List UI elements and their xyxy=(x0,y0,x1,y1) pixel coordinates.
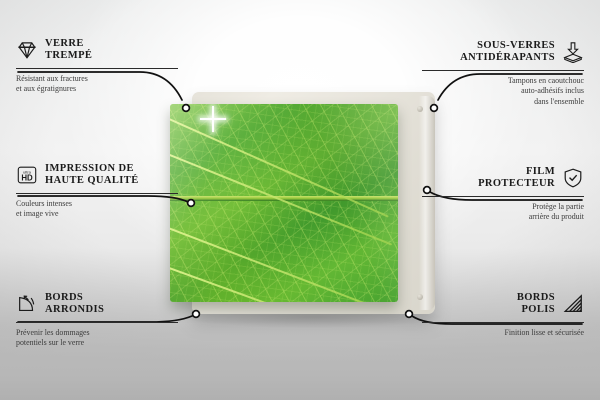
feature-title: SOUS-VERRES ANTIDÉRAPANTS xyxy=(460,40,555,65)
divider xyxy=(422,196,584,197)
feature-header: SOUS-VERRES ANTIDÉRAPANTS xyxy=(422,40,584,65)
feature-title: BORDS ARRONDIS xyxy=(45,292,104,317)
feature-film-protecteur: FILM PROTECTEUR Protège la partie arrièr… xyxy=(422,166,584,223)
product-image xyxy=(170,92,435,324)
shield-check-icon xyxy=(562,167,584,189)
feature-header: BORDS ARRONDIS xyxy=(16,292,178,317)
feature-header: BORDS POLIS xyxy=(422,292,584,317)
feature-bords-arrondis: BORDS ARRONDIS Prévenir les dommages pot… xyxy=(16,292,178,349)
infographic-canvas: VERRE TREMPÉ Résistant aux fractures et … xyxy=(0,0,600,400)
feature-description: Prévenir les dommages potentiels sur le … xyxy=(16,328,178,348)
feature-bords-polis: BORDS POLIS Finition lisse et sécurisée xyxy=(422,292,584,338)
feature-title: FILM PROTECTEUR xyxy=(478,166,555,191)
svg-text:HD: HD xyxy=(21,174,33,183)
divider xyxy=(16,322,178,323)
feature-description: Couleurs intenses et image vive xyxy=(16,199,178,219)
ultra-hd-icon: ultra HD xyxy=(16,164,38,186)
divider xyxy=(422,70,584,71)
feature-description: Résistant aux fractures et aux égratignu… xyxy=(16,74,178,94)
divider xyxy=(16,68,178,69)
feature-description: Tampons en caoutchouc auto-adhésifs incl… xyxy=(422,76,584,107)
feature-verre-trempe: VERRE TREMPÉ Résistant aux fractures et … xyxy=(16,38,178,95)
feature-impression-haute-qualite: ultra HD IMPRESSION DE HAUTE QUALITÉ Cou… xyxy=(16,163,178,220)
feature-header: ultra HD IMPRESSION DE HAUTE QUALITÉ xyxy=(16,163,178,188)
leaf-photo xyxy=(170,104,398,302)
feature-description: Protège la partie arrière du produit xyxy=(422,202,584,222)
feature-title: IMPRESSION DE HAUTE QUALITÉ xyxy=(45,163,139,188)
rounded-corner-icon xyxy=(16,293,38,315)
divider xyxy=(16,193,178,194)
feature-header: FILM PROTECTEUR xyxy=(422,166,584,191)
feature-sous-verres-antiderapants: SOUS-VERRES ANTIDÉRAPANTS Tampons en cao… xyxy=(422,40,584,107)
rubber-pad-press-icon xyxy=(562,41,584,63)
feature-title: VERRE TREMPÉ xyxy=(45,38,92,63)
rubber-pad xyxy=(417,106,423,112)
diamond-icon xyxy=(16,39,38,61)
glass-reflection xyxy=(170,104,398,302)
feature-title: BORDS POLIS xyxy=(517,292,555,317)
feature-description: Finition lisse et sécurisée xyxy=(422,328,584,338)
polished-edge-icon xyxy=(562,293,584,315)
divider xyxy=(422,322,584,323)
feature-header: VERRE TREMPÉ xyxy=(16,38,178,63)
